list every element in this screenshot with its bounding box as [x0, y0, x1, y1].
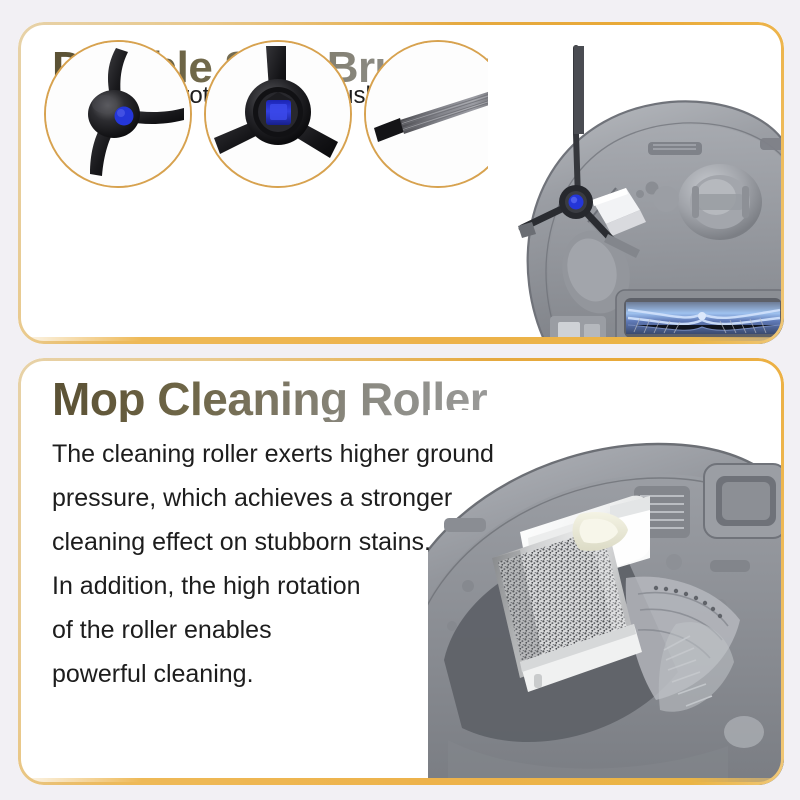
body-line: of the roller enables: [52, 608, 492, 652]
side-brush-underside-icon: [206, 42, 350, 186]
side-brush-underside-thumbnail: [204, 40, 352, 188]
panel-side-brushes: Durable Side Brushes High-speed rotating…: [18, 22, 784, 344]
body-line: In addition, the high rotation: [52, 564, 492, 608]
body-line: pressure, which achieves a stronger: [52, 476, 492, 520]
page-title-mop-roller: Mop Cleaning Roller: [52, 376, 487, 422]
body-copy-mop-roller: The cleaning roller exerts higher ground…: [52, 432, 492, 696]
infographic-page: Durable Side Brushes High-speed rotating…: [0, 0, 800, 800]
panel-mop-roller: Mop Cleaning Roller The cleaning roller …: [18, 358, 784, 785]
body-line: cleaning effect on stubborn stains.: [52, 520, 492, 564]
side-brush-top-view-thumbnail: [44, 40, 192, 188]
robot-vacuum-side-brush-photo: [488, 22, 784, 344]
body-line: powerful cleaning.: [52, 652, 492, 696]
side-brush-top-view-icon: [46, 42, 190, 186]
body-line: The cleaning roller exerts higher ground: [52, 432, 492, 476]
robot-vacuum-underside-illustration: [488, 22, 784, 344]
